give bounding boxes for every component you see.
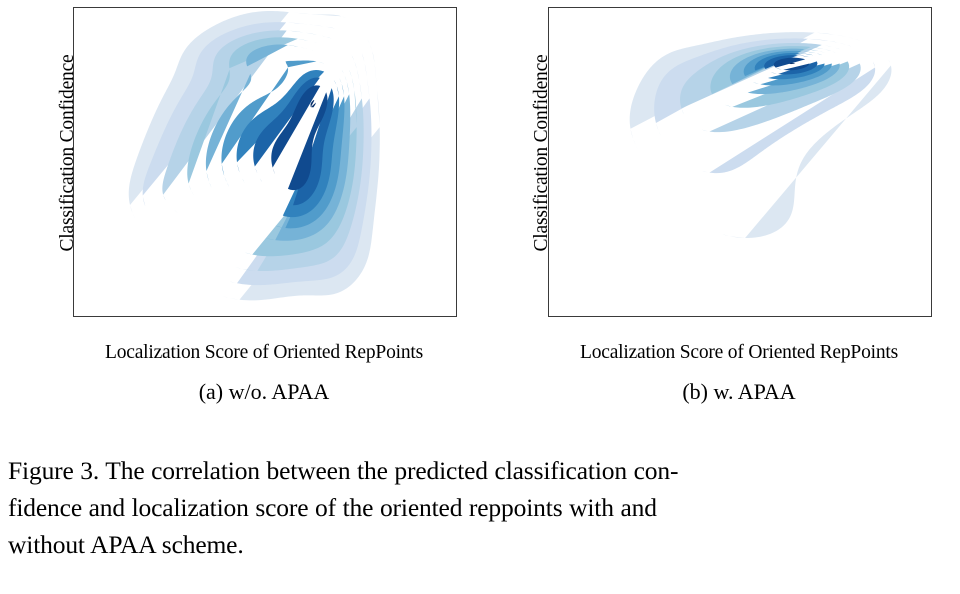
panel-a-x-axis-title: Localization Score of Oriented RepPoints xyxy=(73,342,455,364)
panel-b-ytick-label: 0.4 xyxy=(548,215,549,234)
panel-a-kde-density-contours xyxy=(74,8,456,316)
panel-a-ytick-label: 0.8 xyxy=(73,87,74,106)
panel-b-ytick-label: 0.6 xyxy=(548,151,549,170)
panel-b-x-axis-title: Localization Score of Oriented RepPoints xyxy=(548,342,930,364)
panel-b-ytick-label: 0.8 xyxy=(548,87,549,106)
panel-b-plot-frame: 0.700.750.800.850.900.951.000.20.40.60.8… xyxy=(548,7,932,317)
panel-a-ytick-label: 1.0 xyxy=(73,23,74,42)
panel-a-ytick-label: 0.2 xyxy=(73,278,74,297)
subplot-panel-b: Classification Confidence 0.700.750.800.… xyxy=(480,0,960,420)
panel-b-subcaption: (b) w. APAA xyxy=(548,379,930,405)
panel-b-kde-density-contours xyxy=(549,8,931,316)
figure-caption-line-3: without APAA scheme. xyxy=(8,526,952,563)
figure-caption: Figure 3. The correlation between the pr… xyxy=(8,452,952,564)
subplot-panel-a: Classification Confidence 0.650.700.750.… xyxy=(0,0,480,420)
panel-a-plot-frame: 0.650.700.750.800.850.900.951.000.20.40.… xyxy=(73,7,457,317)
panel-b-ytick-label: 1.0 xyxy=(548,23,549,42)
figure-panels-row: Classification Confidence 0.650.700.750.… xyxy=(0,0,960,420)
panel-b-ytick-label: 0.2 xyxy=(548,278,549,297)
figure-caption-line-1: Figure 3. The correlation between the pr… xyxy=(8,452,952,489)
figure-page: Classification Confidence 0.650.700.750.… xyxy=(0,0,960,594)
panel-a-subcaption: (a) w/o. APAA xyxy=(73,379,455,405)
panel-a-ytick-label: 0.4 xyxy=(73,215,74,234)
figure-caption-line-2: fidence and localization score of the or… xyxy=(8,489,952,526)
panel-a-ytick-label: 0.6 xyxy=(73,151,74,170)
